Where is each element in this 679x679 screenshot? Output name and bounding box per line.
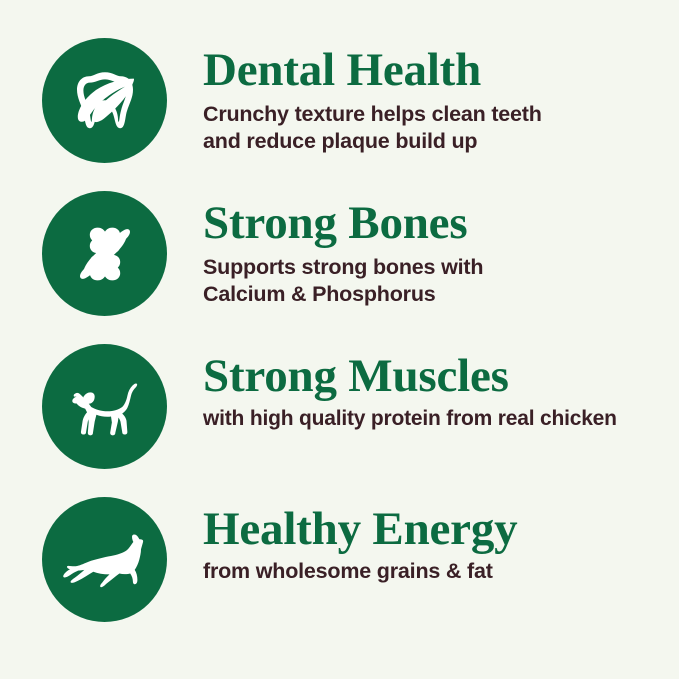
benefit-description-line: from wholesome grains & fat	[203, 558, 657, 585]
benefit-description-line: with high quality protein from real chic…	[203, 405, 657, 432]
benefit-description-line: Crunchy texture helps clean teeth	[203, 101, 657, 128]
benefit-row: Dental Health Crunchy texture helps clea…	[42, 38, 657, 163]
benefit-text-block: Dental Health Crunchy texture helps clea…	[167, 38, 657, 155]
benefit-title: Strong Bones	[203, 197, 657, 249]
tooth-leaf-icon	[65, 61, 145, 141]
benefit-text-block: Healthy Energy from wholesome grains & f…	[167, 497, 657, 585]
benefit-title: Strong Muscles	[203, 350, 657, 402]
benefit-title: Dental Health	[203, 44, 657, 96]
benefit-description-line: and reduce plaque build up	[203, 128, 657, 155]
bone-leaf-icon	[65, 214, 145, 294]
benefit-description: Supports strong bones with Calcium & Pho…	[203, 254, 657, 308]
benefit-description-line: Calcium & Phosphorus	[203, 281, 657, 308]
benefit-icon-badge	[42, 497, 167, 622]
benefit-text-block: Strong Bones Supports strong bones with …	[167, 191, 657, 308]
benefit-row: Healthy Energy from wholesome grains & f…	[42, 497, 657, 622]
leaping-dog-icon	[60, 515, 150, 605]
benefit-title: Healthy Energy	[203, 503, 657, 555]
benefit-text-block: Strong Muscles with high quality protein…	[167, 344, 657, 432]
benefit-row: Strong Bones Supports strong bones with …	[42, 191, 657, 316]
benefit-description-line: Supports strong bones with	[203, 254, 657, 281]
benefit-description: Crunchy texture helps clean teeth and re…	[203, 101, 657, 155]
benefit-row: Strong Muscles with high quality protein…	[42, 344, 657, 469]
benefit-icon-badge	[42, 38, 167, 163]
benefits-infographic: Dental Health Crunchy texture helps clea…	[0, 0, 679, 679]
benefit-icon-badge	[42, 344, 167, 469]
benefit-icon-badge	[42, 191, 167, 316]
standing-dog-icon	[62, 364, 148, 450]
benefit-description: with high quality protein from real chic…	[203, 405, 657, 432]
benefit-description: from wholesome grains & fat	[203, 558, 657, 585]
